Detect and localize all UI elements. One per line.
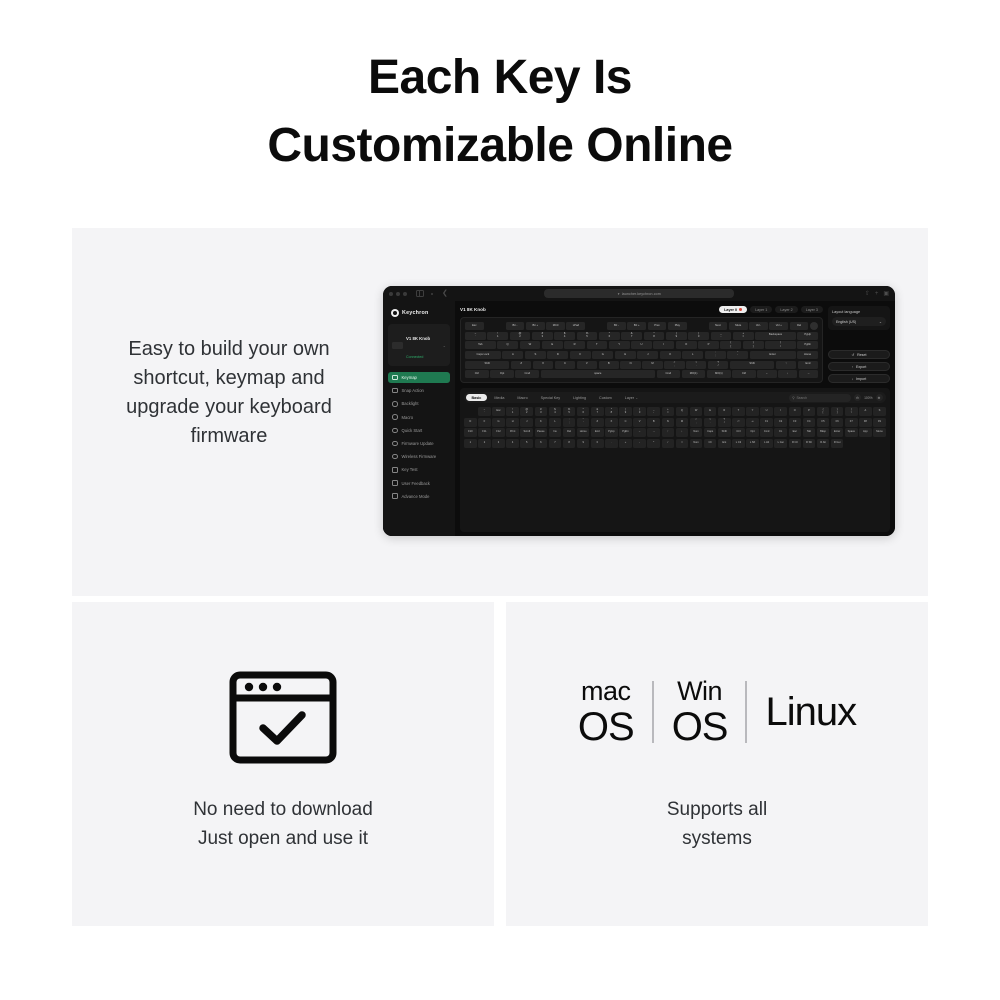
keycode-key[interactable]: X <box>605 418 618 427</box>
tab-overview-icon[interactable] <box>431 293 433 295</box>
keycode-key[interactable]: :; <box>563 418 576 427</box>
keyboard-key[interactable]: LPad <box>566 322 585 330</box>
brand-logo: Keychron <box>388 307 450 324</box>
keyboard-key[interactable]: ↓ <box>778 370 797 378</box>
keycode-key[interactable]: Print <box>506 428 519 437</box>
search-placeholder: Search <box>796 396 806 400</box>
sidebar-nav: KeymapSnap ActionBacklightMacroQuick Sta… <box>388 372 450 502</box>
keycode-key[interactable]: %5 <box>563 407 576 416</box>
zoom-in-icon[interactable]: ⊕ <box>876 394 883 401</box>
keycode-key[interactable]: L Gui <box>774 439 787 448</box>
keycode-key[interactable]: 2 <box>478 439 491 448</box>
layout-panel: Layout language English (US) ⌄ ↺Reset↑Ex… <box>828 306 890 383</box>
keycode-row: F10F11F12PrintScrollPauseInsDelHomeEndPg… <box>464 428 886 437</box>
keycode-key[interactable]: Pause <box>535 428 548 437</box>
keycode-key[interactable]: F5 <box>817 418 830 427</box>
key-legend-bottom: 4 <box>564 336 566 339</box>
sidebar-item-wireless-firmware[interactable]: Wireless Firmware <box>388 451 450 462</box>
keycode-key[interactable]: 1 <box>464 439 477 448</box>
keyboard-key[interactable]: N <box>620 361 640 369</box>
keyboard-key[interactable]: Tab <box>465 341 496 349</box>
layer-tab-layer-1[interactable]: Layer 1 <box>750 306 772 313</box>
keycode-key[interactable]: Ctrl <box>732 428 745 437</box>
keycode-key[interactable]: Z <box>591 418 604 427</box>
keycode-key[interactable]: 7 <box>549 439 562 448</box>
keyboard-key[interactable]: M <box>642 361 662 369</box>
keyboard-key[interactable]: |\ <box>765 341 796 349</box>
chevron-down-icon[interactable]: ⌄ <box>443 343 446 348</box>
keyboard-key[interactable]: Shift <box>730 361 774 369</box>
keyboard-key[interactable]: U <box>631 341 652 349</box>
keycode-key[interactable]: Y <box>746 407 759 416</box>
keycode-key[interactable]: Opt <box>746 428 759 437</box>
keyboard-key[interactable]: ?/ <box>708 361 728 369</box>
keycode-key[interactable]: I <box>774 407 787 416</box>
keycode-row: ~`Esc!1@2#3$4%5^6&7*8(9)0_-+=QWERTYUIOP{… <box>464 407 886 416</box>
sidebar-item-macro[interactable]: Macro <box>388 412 450 423</box>
keyboard-key[interactable]: X <box>533 361 553 369</box>
keycode-key[interactable]: Esc <box>789 428 802 437</box>
keycode-key[interactable]: R Sft <box>803 439 816 448</box>
page-title-line-1: Each Key Is <box>368 51 632 104</box>
keyboard-key[interactable]: MO(1) <box>707 370 731 378</box>
keycode-key[interactable]: R Alt <box>817 439 830 448</box>
keycode-key[interactable]: B <box>647 418 660 427</box>
keycode-legend-bottom: / <box>724 422 725 425</box>
keycode-key[interactable]: R <box>718 407 731 416</box>
layer-tab-layer-3[interactable]: Layer 3 <box>801 306 823 313</box>
keycode-legend-bottom: ] <box>837 412 838 415</box>
lock-icon: ▼ <box>617 292 620 296</box>
keycode-key[interactable]: / <box>662 439 675 448</box>
reset-button[interactable]: ↺Reset <box>828 350 890 359</box>
keyboard-key[interactable]: Play <box>668 322 687 330</box>
keycode-key[interactable]: F12 <box>492 428 505 437</box>
plus-icon[interactable]: + <box>875 291 879 297</box>
keycode-key[interactable]: A <box>859 407 872 416</box>
rocket-icon <box>392 428 398 434</box>
keycode-key[interactable]: 5 <box>520 439 533 448</box>
keyboard-key[interactable]: Del <box>790 322 809 330</box>
keycode-key[interactable]: Clr <box>704 439 717 448</box>
keycode-key[interactable]: Cmd <box>760 428 773 437</box>
keycode-key[interactable]: E <box>704 407 717 416</box>
keycode-legend-bottom: 4 <box>554 412 555 415</box>
keycode-key[interactable]: F10 <box>464 428 477 437</box>
sidebar-item-quick-start[interactable]: Quick Start <box>388 425 450 436</box>
keyboard-key[interactable]: Q <box>497 341 518 349</box>
keycode-key[interactable]: PgUp <box>605 428 618 437</box>
browser-titlebar: ❮ ▼ launcher.keychron.com ⇧ + ▣ <box>383 286 895 301</box>
tab-custom[interactable]: Custom <box>593 394 618 402</box>
sidebar-item-keymap[interactable]: Keymap <box>388 372 450 383</box>
keycode-key[interactable]: M <box>676 418 689 427</box>
keycode-key[interactable]: F7 <box>845 418 858 427</box>
keyboard-key[interactable]: Ctrl <box>732 370 756 378</box>
tab-lighting[interactable]: Lighting <box>567 394 592 402</box>
keyboard-key[interactable]: (9 <box>666 332 687 340</box>
feedback-icon <box>392 480 398 486</box>
keyboard-key[interactable]: @2 <box>510 332 531 340</box>
keycode-key[interactable]: }] <box>831 407 844 416</box>
keycode-key[interactable]: F6 <box>831 418 844 427</box>
keycode-key[interactable]: C <box>619 418 632 427</box>
keycode-key[interactable]: * <box>647 439 660 448</box>
keycode-key[interactable]: = <box>676 439 689 448</box>
keycode-key[interactable]: ~` <box>478 407 491 416</box>
key-legend-bottom: 8 <box>653 336 655 339</box>
keyboard-key[interactable]: #3 <box>532 332 553 340</box>
keycode-key[interactable]: Caps <box>704 428 717 437</box>
keycode-key[interactable]: ↑ <box>662 428 675 437</box>
keycode-key[interactable]: F8 <box>859 418 872 427</box>
keyboard-key[interactable]: PgDn <box>797 341 818 349</box>
feature-card-os-support <box>506 602 928 926</box>
keycode-key[interactable]: Home <box>577 428 590 437</box>
keycode-key[interactable]: F1 <box>760 418 773 427</box>
keycode-key[interactable]: L <box>549 418 562 427</box>
address-bar[interactable]: ▼ launcher.keychron.com <box>544 289 734 298</box>
keycode-empty <box>873 439 886 448</box>
keycode-key[interactable]: Ins <box>549 428 562 437</box>
layer-tab-layer-2[interactable]: Layer 2 <box>775 306 797 313</box>
keycode-key[interactable]: Scroll <box>520 428 533 437</box>
duplicate-icon[interactable]: ▣ <box>883 291 889 297</box>
keyboard-key[interactable]: Opt <box>490 370 514 378</box>
key-legend-bottom: 6 <box>609 336 611 339</box>
keycode-key[interactable]: <, <box>690 418 703 427</box>
keyboard-key[interactable]: Backspace <box>755 332 795 340</box>
sidebar-item-label: Snap Action <box>402 388 424 393</box>
layer-tab-label: Layer 0 <box>724 308 737 312</box>
keycode-key[interactable]: ← <box>633 428 646 437</box>
keyboard-key[interactable]: _- <box>711 332 732 340</box>
keycode-key[interactable]: F2 <box>774 418 787 427</box>
export-icon: ↑ <box>852 365 854 369</box>
chevron-left-icon[interactable]: ❮ <box>442 290 448 297</box>
keyboard-key[interactable]: Home <box>797 351 818 359</box>
sidebar-item-label: Quick Start <box>402 428 423 433</box>
keycode-key[interactable]: Tab <box>803 428 816 437</box>
keycode-key[interactable]: PgDn <box>619 428 632 437</box>
key-legend-bottom: [ <box>730 346 731 349</box>
keycode-key[interactable]: S <box>873 407 886 416</box>
caption-no-download-line-2: Just open and use it <box>198 828 368 849</box>
keycode-key[interactable]: 6 <box>535 439 548 448</box>
keycode-key[interactable]: ↓ <box>676 428 689 437</box>
keycode-key[interactable]: )0 <box>633 407 646 416</box>
keycode-key[interactable]: Fn <box>774 428 787 437</box>
keycode-key[interactable]: 9 <box>577 439 590 448</box>
reset-button-label: Reset <box>857 353 866 357</box>
keycode-key[interactable]: Num <box>690 439 703 448</box>
keyboard-key[interactable]: F <box>570 351 591 359</box>
keycode-key[interactable]: F11 <box>478 428 491 437</box>
keycode-legend-bottom: [ <box>823 412 824 415</box>
keyboard-key[interactable]: !1 <box>487 332 508 340</box>
layout-language-value: English (US) <box>836 320 856 324</box>
key-legend-bottom: \ <box>780 346 781 349</box>
search-input[interactable]: ⚲ Search <box>789 394 851 402</box>
keycode-key[interactable]: L Alt <box>760 439 773 448</box>
keyboard-key[interactable]: B <box>599 361 619 369</box>
tab-layer[interactable]: Layer⌄ <box>619 394 644 402</box>
keyboard-key[interactable]: <, <box>664 361 684 369</box>
keycode-key[interactable]: ⏎ <box>732 418 745 427</box>
tab-label: Lighting <box>573 396 586 400</box>
keycode-key[interactable]: J <box>520 418 533 427</box>
keycode-legend-bottom: 2 <box>526 412 527 415</box>
import-button[interactable]: ↓Import <box>828 374 890 383</box>
keyboard-key[interactable]: ~` <box>465 332 486 340</box>
keyboard-key[interactable]: I <box>653 341 674 349</box>
keycode-key[interactable]: &7 <box>591 407 604 416</box>
import-button-label: Import <box>856 377 866 381</box>
browser-toolbar-actions[interactable]: ⇧ + ▣ <box>865 291 889 297</box>
keycode-key[interactable]: App <box>859 428 872 437</box>
sidebar-item-label: Keymap <box>402 375 417 380</box>
keycode-key[interactable]: R Gui <box>831 439 844 448</box>
keycode-key[interactable]: → <box>647 428 660 437</box>
keyboard-key[interactable]: Esc <box>465 322 484 330</box>
launcher-app-body: Keychron V1 8K Knob Connected ⌄ KeymapSn… <box>383 301 895 536</box>
keycode-grid[interactable]: ~`Esc!1@2#3$4%5^6&7*8(9)0_-+=QWERTYUIOP{… <box>464 407 886 448</box>
keycode-key[interactable]: #3 <box>535 407 548 416</box>
keyboard-key[interactable]: J <box>637 351 658 359</box>
os-logo-macos-top: mac <box>581 678 631 705</box>
keyboard-key[interactable]: += <box>733 332 754 340</box>
keyboard-key[interactable]: &7 <box>621 332 642 340</box>
keyboard-key[interactable]: G <box>592 351 613 359</box>
keycode-key[interactable]: End <box>591 428 604 437</box>
export-button[interactable]: ↑Export <box>828 362 890 371</box>
keyboard-key[interactable]: Bri - <box>607 322 626 330</box>
keyboard-key[interactable]: MO(1) <box>682 370 706 378</box>
keyboard-key[interactable]: T <box>587 341 608 349</box>
keycode-key[interactable]: F4 <box>803 418 816 427</box>
keycode-key[interactable]: F9 <box>873 418 886 427</box>
keyboard-key[interactable]: >. <box>686 361 706 369</box>
keyboard-key[interactable]: Cmd <box>657 370 681 378</box>
keyboard-key[interactable]: S <box>525 351 546 359</box>
keycode-key[interactable]: T <box>732 407 745 416</box>
keyboard-key[interactable]: %5 <box>577 332 598 340</box>
keyboard-key[interactable]: PgUp <box>797 332 818 340</box>
keycode-key[interactable]: Bksp <box>817 428 830 437</box>
brand-name: Keychron <box>402 310 428 316</box>
keycode-key[interactable]: Q <box>676 407 689 416</box>
keycode-key[interactable]: {[ <box>817 407 830 416</box>
keyboard-key[interactable]: → <box>799 370 818 378</box>
tab-basic[interactable]: Basic <box>466 394 488 402</box>
keycode-key[interactable]: 3 <box>492 439 505 448</box>
sidebar-item-snap-action[interactable]: Snap Action <box>388 385 450 396</box>
sidebar-item-user-feedback[interactable]: User Feedback <box>388 478 450 489</box>
keyboard-key[interactable]: V <box>577 361 597 369</box>
keycode-key[interactable]: F <box>478 418 491 427</box>
keycode-key[interactable]: Shift <box>718 428 731 437</box>
layer-tab-layer-0[interactable]: Layer 0 <box>719 306 747 313</box>
keyboard-key[interactable]: "' <box>727 351 748 359</box>
keyboard-key[interactable]: Ctrl <box>465 370 489 378</box>
keycode-key[interactable]: 4 <box>506 439 519 448</box>
sidebar-item-key-test[interactable]: Key Test <box>388 464 450 475</box>
keycode-key[interactable]: _- <box>647 407 660 416</box>
keycode-key[interactable]: . <box>605 439 618 448</box>
sidebar-toggle-icon[interactable] <box>416 290 424 297</box>
keycode-key[interactable]: Del <box>563 428 576 437</box>
keycode-key[interactable]: |\ <box>845 407 858 416</box>
keycode-key[interactable]: K <box>535 418 548 427</box>
keyboard-key[interactable]: Z <box>511 361 531 369</box>
keycode-key[interactable]: *8 <box>605 407 618 416</box>
keycode-legend-bottom: ; <box>569 422 570 425</box>
caption-os-support: Supports all systems <box>526 795 908 853</box>
keyboard-key[interactable]: Bri - <box>506 322 525 330</box>
keycode-key[interactable]: Enter <box>831 428 844 437</box>
keycode-key[interactable]: W <box>690 407 703 416</box>
keyboard-key[interactable]: space <box>541 370 655 378</box>
keyboard-layout[interactable]: EscBri -Bri +MCtlLPadBri -Bri +PrevPlayN… <box>460 317 823 383</box>
keyboard-key[interactable]: C <box>555 361 575 369</box>
key-legend-bottom: ] <box>753 346 754 349</box>
chevron-down-icon: ⌄ <box>636 396 639 400</box>
keyboard-key[interactable]: Shift <box>465 361 509 369</box>
keyboard-key[interactable]: {[ <box>720 341 741 349</box>
keycode-key[interactable]: Menu <box>873 428 886 437</box>
os-logo-linux-label: Linux <box>765 692 856 732</box>
keycode-key[interactable]: L Ctl <box>732 439 745 448</box>
sidebar-item-advance-mode[interactable]: Advance Mode <box>388 491 450 502</box>
keycode-key[interactable]: += <box>662 407 675 416</box>
sidebar-item-label: Advance Mode <box>402 494 430 499</box>
tab-macro[interactable]: Macro <box>511 394 533 402</box>
keycode-key[interactable]: Num <box>690 428 703 437</box>
keyboard-key[interactable]: W <box>520 341 541 349</box>
keycode-key[interactable]: V <box>633 418 646 427</box>
keyboard-key[interactable]: Y <box>609 341 630 349</box>
key-legend-bottom: 7 <box>631 336 633 339</box>
keyboard-key[interactable]: )0 <box>688 332 709 340</box>
keycode-empty <box>859 439 872 448</box>
keycode-key[interactable]: D <box>464 418 477 427</box>
key-legend-bottom: 2 <box>519 336 521 339</box>
keycode-key[interactable]: $4 <box>549 407 562 416</box>
caption-no-download-line-1: No need to download <box>193 799 373 820</box>
keycode-key[interactable]: Space <box>845 428 858 437</box>
keycode-key[interactable]: R Ctl <box>789 439 802 448</box>
keyboard-gap <box>485 322 504 330</box>
keycode-legend-bottom: ` <box>484 412 485 415</box>
tab-media[interactable]: Media <box>488 394 510 402</box>
keycode-key[interactable]: P <box>803 407 816 416</box>
keycode-key[interactable]: H <box>506 418 519 427</box>
browser-check-icon <box>228 670 338 770</box>
keyboard-key[interactable]: :; <box>705 351 726 359</box>
macro-icon <box>392 414 398 420</box>
keycode-key[interactable]: O <box>789 407 802 416</box>
keyboard-key[interactable]: O <box>676 341 697 349</box>
keyboard-key[interactable]: End <box>798 361 818 369</box>
keycode-key[interactable]: - <box>633 439 646 448</box>
tab-special-key[interactable]: Special Key <box>535 394 566 402</box>
keyboard-key[interactable]: Cmd <box>515 370 539 378</box>
layout-language-select[interactable]: English (US) ⌄ <box>832 317 886 326</box>
keyboard-key[interactable]: A <box>502 351 523 359</box>
keycode-legend-bottom: - <box>653 412 654 415</box>
keyboard-key[interactable]: K <box>660 351 681 359</box>
layer-tab-label: Layer 3 <box>806 308 818 312</box>
keycode-key[interactable]: + <box>619 439 632 448</box>
keyboard-key[interactable]: Next <box>709 322 728 330</box>
keyboard-key[interactable] <box>810 322 818 330</box>
keycode-key[interactable]: ?/ <box>718 418 731 427</box>
keyboard-key[interactable]: ← <box>757 370 776 378</box>
zoom-out-icon[interactable]: ⊖ <box>854 394 861 401</box>
keyboard-key[interactable]: Prev <box>648 322 667 330</box>
window-traffic-lights[interactable] <box>389 292 407 296</box>
keycode-key[interactable]: >. <box>704 418 717 427</box>
keyboard-key[interactable]: ^6 <box>599 332 620 340</box>
keycode-key[interactable]: L Sft <box>746 439 759 448</box>
keyboard-key[interactable]: *8 <box>644 332 665 340</box>
share-icon[interactable]: ⇧ <box>865 291 870 297</box>
keyboard-key[interactable]: Enter <box>750 351 796 359</box>
keyboard-key[interactable]: ↑ <box>776 361 796 369</box>
keyboard-key[interactable]: MCtl <box>546 322 565 330</box>
keycode-key[interactable]: F3 <box>789 418 802 427</box>
keyboard-key[interactable]: Bri + <box>627 322 646 330</box>
device-selector[interactable]: V1 8K Knob Connected ⌄ <box>388 324 450 366</box>
keycode-key[interactable]: N <box>662 418 675 427</box>
keycode-key[interactable]: (9 <box>619 407 632 416</box>
keyboard-key[interactable]: Caps Lock <box>465 351 501 359</box>
keycode-key[interactable]: 8 <box>563 439 576 448</box>
keymap-icon <box>392 375 398 381</box>
keycode-key[interactable]: Esc <box>492 407 505 416</box>
keycode-key[interactable]: G <box>492 418 505 427</box>
keycode-key[interactable]: Ent <box>718 439 731 448</box>
keycode-key[interactable]: "' <box>577 418 590 427</box>
keytest-icon <box>392 467 398 473</box>
keycode-key[interactable]: !1 <box>506 407 519 416</box>
keyboard-key[interactable]: Mute <box>729 322 748 330</box>
advance-icon <box>392 493 398 499</box>
keyboard-key[interactable]: Vol - <box>749 322 768 330</box>
tab-label: Basic <box>472 396 482 400</box>
keycode-key[interactable]: ^6 <box>577 407 590 416</box>
keyboard-key[interactable]: Vol + <box>769 322 788 330</box>
keyboard-key[interactable]: }] <box>743 341 764 349</box>
keycode-key[interactable]: @2 <box>520 407 533 416</box>
keyboard-key[interactable]: P <box>698 341 719 349</box>
keycode-key[interactable]: 0 <box>591 439 604 448</box>
keyboard-key[interactable]: L <box>682 351 703 359</box>
keyboard-key[interactable]: E <box>542 341 563 349</box>
export-button-label: Export <box>856 365 866 369</box>
keyboard-key[interactable]: $4 <box>554 332 575 340</box>
keycode-key[interactable]: U <box>760 407 773 416</box>
keyboard-key[interactable]: R <box>564 341 585 349</box>
keyboard-key[interactable]: D <box>547 351 568 359</box>
keyboard-key[interactable]: Bri + <box>526 322 545 330</box>
sidebar-item-backlight[interactable]: Backlight <box>388 398 450 409</box>
keyboard-key[interactable]: H <box>615 351 636 359</box>
keycode-key[interactable]: ⇥ <box>746 418 759 427</box>
sidebar-item-firmware-update[interactable]: Firmware Update <box>388 438 450 449</box>
keycode-empty <box>845 439 858 448</box>
keycode-legend-bottom: , <box>696 422 697 425</box>
